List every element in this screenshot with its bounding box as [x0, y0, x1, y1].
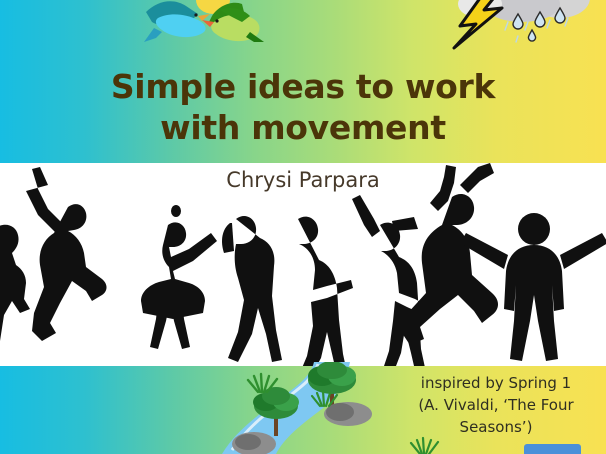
dancing-children-silhouettes	[0, 163, 606, 366]
silhouette-band	[0, 163, 606, 366]
author-name: Chrysi Parpara	[0, 168, 606, 192]
poster-canvas: Simple ideas to work with movement	[0, 0, 606, 454]
river-landscape-illustration	[218, 362, 418, 454]
bird-icon	[198, 0, 284, 56]
page-title: Simple ideas to work with movement	[0, 66, 606, 148]
credit-text: inspired by Spring 1 (A. Vivaldi, ‘The F…	[396, 372, 596, 438]
blue-bar	[524, 444, 581, 454]
storm-cloud-lightning-icon	[432, 0, 606, 46]
